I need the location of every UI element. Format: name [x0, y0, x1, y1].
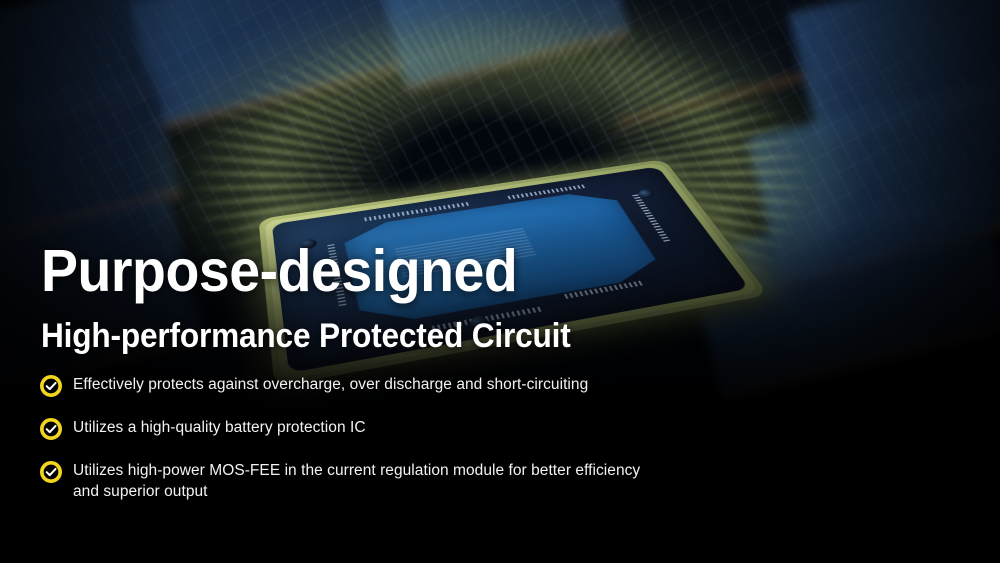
check-circle-icon	[40, 461, 62, 483]
slide-content: Purpose-designed High-performance Protec…	[0, 0, 1000, 563]
product-feature-slide: Purpose-designed High-performance Protec…	[0, 0, 1000, 563]
list-item-label: Utilizes high-power MOS-FEE in the curre…	[73, 460, 668, 502]
list-item-label: Utilizes a high-quality battery protecti…	[73, 417, 366, 438]
list-item: Utilizes a high-quality battery protecti…	[40, 417, 740, 440]
list-item: Utilizes high-power MOS-FEE in the curre…	[40, 460, 740, 502]
page-title: Purpose-designed	[41, 240, 517, 302]
list-item: Effectively protects against overcharge,…	[40, 374, 740, 397]
check-circle-icon	[40, 375, 62, 397]
feature-bullet-list: Effectively protects against overcharge,…	[40, 374, 740, 502]
check-circle-icon	[40, 418, 62, 440]
list-item-label: Effectively protects against overcharge,…	[73, 374, 588, 395]
page-subtitle: High-performance Protected Circuit	[41, 316, 571, 356]
